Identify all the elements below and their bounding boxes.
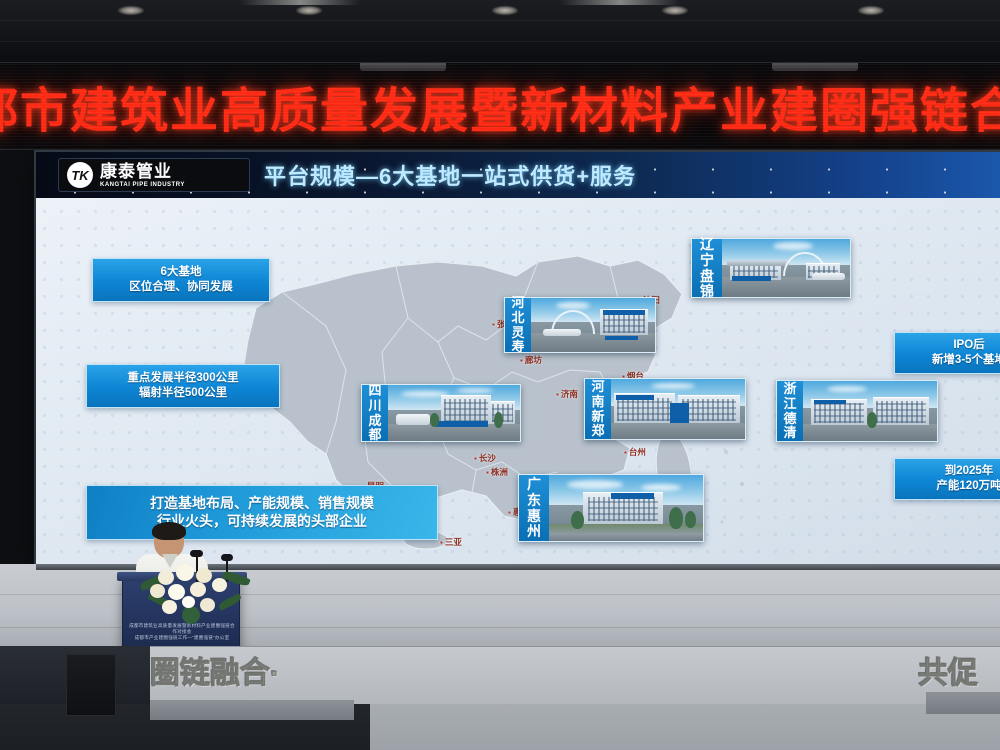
callout-line: 6大基地	[101, 265, 261, 280]
base-label-henan-xinzheng: 河南新郑	[585, 379, 611, 439]
base-label-liaoning-panjin: 辽宁盘锦	[692, 239, 722, 297]
base-card-hebei-lingshou[interactable]: 河北灵寿	[504, 297, 656, 353]
base-photo-zhejiang-deqing	[803, 381, 937, 441]
stage-front-text-right: 共促	[918, 648, 978, 692]
ceiling-light	[296, 6, 322, 15]
callout-six-bases: 6大基地 区位合理、协同发展	[92, 258, 270, 302]
stage-riser-step	[926, 692, 1000, 714]
base-card-zhejiang-deqing[interactable]: 浙江德清	[776, 380, 938, 442]
projector-mount	[360, 62, 446, 71]
slide-header-bar: TK 康泰管业 KANGTAI PIPE INDUSTRY 平台规模—6大基地一…	[36, 152, 1000, 198]
presentation-slide: TK 康泰管业 KANGTAI PIPE INDUSTRY 平台规模—6大基地一…	[36, 152, 1000, 564]
base-photo-guangdong-huizhou	[549, 475, 703, 541]
callout-line: 辐射半径500公里	[95, 386, 271, 401]
stage-front-text-left: 圈链融合·	[150, 648, 280, 692]
callout-line: 产能120万吨	[903, 479, 1000, 494]
city-marker: 台州	[624, 446, 646, 458]
company-logo: TK 康泰管业 KANGTAI PIPE INDUSTRY	[58, 158, 250, 192]
base-photo-hebei-lingshou	[531, 298, 655, 352]
auditorium-ceiling	[0, 0, 1000, 62]
podium-text-line2: 成都市产业建圈强链工作—“建圈强链”办公室	[129, 635, 235, 641]
callout-ipo: IPO后 新增3-5个基地	[894, 332, 1000, 374]
ceiling-light	[118, 6, 144, 15]
logo-chinese-name: 康泰管业	[100, 163, 185, 180]
base-card-guangdong-huizhou[interactable]: 广东惠州	[518, 474, 704, 542]
logo-english-name: KANGTAI PIPE INDUSTRY	[100, 182, 185, 188]
ceiling-light	[662, 6, 688, 15]
projection-screen: TK 康泰管业 KANGTAI PIPE INDUSTRY 平台规模—6大基地一…	[36, 152, 1000, 564]
city-marker: 三亚	[440, 536, 462, 548]
city-marker: 济南	[556, 388, 578, 400]
speaker-hair	[152, 522, 186, 540]
callout-line: IPO后	[903, 338, 1000, 353]
base-label-zhejiang-deqing: 浙江德清	[777, 381, 803, 441]
city-marker: 株洲	[486, 466, 508, 478]
stage-riser-step	[150, 700, 354, 720]
callout-line: 新增3-5个基地	[903, 353, 1000, 368]
base-label-guangdong-huizhou: 广东惠州	[519, 475, 549, 541]
city-marker: 长沙	[474, 452, 496, 464]
base-photo-henan-xinzheng	[611, 379, 745, 439]
callout-line: 重点发展半径300公里	[95, 371, 271, 386]
base-label-hebei-lingshou: 河北灵寿	[505, 298, 531, 352]
slide-title: 平台规模—6大基地一站式供货+服务	[264, 160, 636, 190]
ceiling-light	[492, 6, 518, 15]
callout-capacity-2025: 到2025年 产能120万吨	[894, 458, 1000, 500]
projector-mount	[772, 62, 858, 71]
base-label-sichuan-chengdu: 四川成都	[362, 385, 388, 441]
podium-text-line1: 成都市建筑业高质量发展暨新材料产业建圈强链合作对接会	[129, 623, 235, 635]
flower-arrangement	[138, 556, 250, 618]
callout-line: 区位合理、协同发展	[101, 280, 261, 295]
base-card-liaoning-panjin[interactable]: 辽宁盘锦	[691, 238, 851, 298]
base-photo-liaoning-panjin	[722, 239, 850, 297]
ceiling-light	[858, 6, 884, 15]
base-card-sichuan-chengdu[interactable]: 四川成都	[361, 384, 521, 442]
callout-line: 打造基地布局、产能规模、销售规模	[97, 494, 427, 512]
led-banner-text: 都市建筑业高质量发展暨新材料产业建圈强链合	[0, 71, 1000, 141]
photo-scene: 都市建筑业高质量发展暨新材料产业建圈强链合 TK 康泰管业 KANGTAI PI…	[0, 0, 1000, 750]
led-marquee-banner: 都市建筑业高质量发展暨新材料产业建圈强链合	[0, 62, 1000, 150]
base-card-henan-xinzheng[interactable]: 河南新郑	[584, 378, 746, 440]
callout-line: 到2025年	[903, 464, 1000, 479]
callout-radius: 重点发展半径300公里 辐射半径500公里	[86, 364, 280, 408]
logo-mark-icon: TK	[67, 162, 93, 188]
base-photo-sichuan-chengdu	[388, 385, 520, 441]
stage-speaker-box	[66, 654, 116, 716]
city-marker: 廊坊	[520, 354, 542, 366]
